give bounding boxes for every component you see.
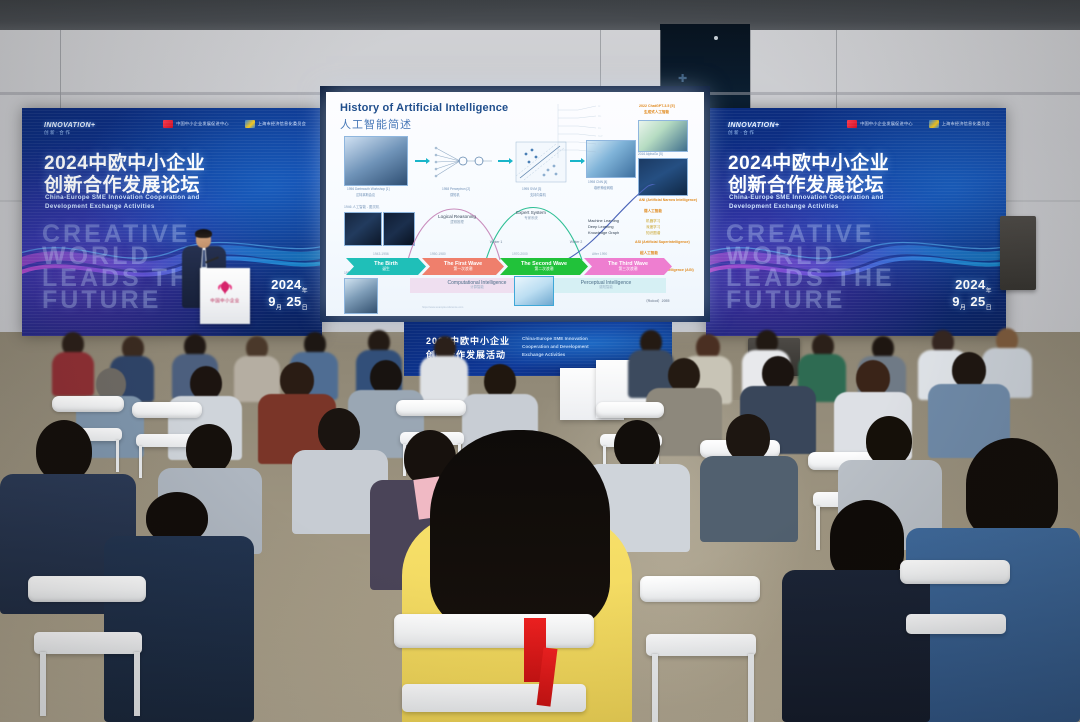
pa-speaker-left: [1000, 216, 1036, 290]
timeline-stage-birth: The Birth诞生: [346, 258, 426, 275]
chair-seat: [402, 684, 586, 712]
attendee-head: [668, 358, 700, 392]
attendee-head: [726, 414, 770, 462]
podium: [200, 268, 250, 324]
sponsor-mark-icon: [245, 120, 255, 128]
sponsor-mark-icon: [163, 120, 173, 128]
banner-title-en-2: Development Exchange Activities: [45, 203, 155, 210]
sponsor-logo-2: 上海市经济信息化委员会: [929, 120, 990, 128]
ml-terms-cn: 机器学习 深度学习 知识图谱: [646, 218, 660, 236]
chair-back: [900, 560, 1010, 584]
attendee-head: [190, 366, 222, 400]
sponsor-name: 中国中小企业发展促进中心: [176, 121, 229, 127]
event-date: 2024年 9月 25日: [268, 277, 308, 312]
timeline-stage-third-wave: The Third Wave第三次浪潮: [584, 258, 672, 275]
ceiling-sprinkler-icon: ✚: [678, 74, 687, 85]
chair-seat: [34, 632, 142, 654]
annotation-robot: （Robot）2055: [644, 299, 670, 304]
wall-panel-seam: [60, 30, 61, 110]
ceiling-light: [714, 36, 718, 40]
timeline-stage-first-wave: The First Wave第一次浪潮: [422, 258, 504, 275]
photo-robot: [514, 276, 554, 306]
year-range-2: 1950-1980: [430, 252, 446, 256]
sponsor-name: 上海市经济信息化委员会: [258, 121, 306, 127]
slide-title-cn: 人工智能简述: [340, 116, 412, 132]
attendee-head: [36, 420, 92, 482]
svg-text:KG: KG: [598, 151, 602, 154]
chair-leg: [748, 654, 754, 722]
photo-turing: [344, 278, 378, 314]
photo-caption-cn: 达特茅斯会议: [356, 192, 375, 197]
svg-text:AI: AI: [598, 105, 601, 108]
ceiling: [0, 0, 1080, 30]
slide-footer: https://www.example-reference.com: [422, 306, 463, 309]
banner-title-cn-2: 创新合作发展论坛: [728, 170, 884, 197]
chair-seat: [646, 634, 756, 656]
attendee-head: [866, 416, 912, 466]
annotation-chatgpt: 2022 ChatGPT-3.5 [5]: [639, 104, 675, 109]
attendee-hair: [430, 430, 610, 630]
svg-text:CV: CV: [598, 143, 602, 146]
attendee-head: [966, 438, 1058, 538]
strip-perceptual-intelligence: Perceptual Intelligence感知智能: [546, 278, 666, 293]
chair-back: [28, 576, 146, 602]
attendee-head: [830, 500, 904, 580]
attendee-head: [614, 420, 660, 470]
chair-leg: [139, 446, 142, 478]
perceptron-diagram: [430, 138, 496, 184]
wall-panel-seam: [836, 30, 837, 116]
flow-arrow: [415, 160, 427, 162]
attendee-head: [856, 360, 890, 396]
slide-bullet: 1946 人工智能 - 图灵机: [344, 204, 379, 209]
attendee-head: [952, 352, 986, 388]
timeline-stage-second-wave: The Second Wave第二次浪潮: [500, 258, 588, 275]
photo-dartmouth: [344, 136, 408, 186]
svg-text:ML: ML: [598, 115, 602, 118]
led-banner-right: CREATIVE WORLD LEADS THE FUTURE INNOVATI…: [706, 108, 1006, 336]
attendee-head: [318, 408, 360, 454]
secondary-banner-en: China-Europe SME Innovation Cooperation …: [522, 335, 589, 358]
phoenix-logo-icon: [216, 280, 234, 296]
banner-title-en-2: Development Exchange Activities: [729, 203, 839, 210]
sponsor-logos: 中国中小企业发展促进中心 上海市经济信息化委员会: [847, 120, 990, 128]
wall-panel-seam: [600, 30, 601, 90]
wall-panel-seam: [750, 30, 751, 112]
photo-chatgpt: [638, 120, 688, 152]
chair-back: [640, 576, 760, 602]
photo-eniac: [344, 212, 382, 246]
flow-arrow: [498, 160, 510, 162]
chair-back: [132, 402, 202, 418]
event-date: 2024年 9月 25日: [952, 277, 992, 312]
sponsor-logos: 中国中小企业发展促进中心 上海市经济信息化委员会: [163, 120, 306, 128]
svg-text:DL: DL: [598, 127, 602, 130]
attendee-body: [782, 570, 930, 722]
photo-caption: 1956 Dartmouth Workshop [1]: [347, 187, 389, 191]
banner-title-en-1: China-Europe SME Innovation Cooperation …: [45, 194, 200, 201]
conference-photo: ✚ ✚✚ CREATIVE: [0, 0, 1080, 722]
wave-label-logical: Logical Reasoning逻辑推理: [422, 214, 492, 224]
ml-terms-en: Machine Learning Deep Learning Knowledge…: [588, 218, 619, 236]
sponsor-logo-1: 中国中小企业发展促进中心: [163, 120, 229, 128]
wave-label-expert: Expert System专家系统: [498, 210, 564, 220]
chair-leg: [40, 652, 46, 716]
chair-leg: [116, 440, 119, 472]
sponsor-name: 上海市经济信息化委员会: [942, 121, 990, 127]
chair-leg: [816, 506, 820, 550]
presentation-screen: History of Artificial Intelligence 人工智能简…: [326, 92, 704, 316]
winter-label-1: Winter 1: [482, 240, 510, 244]
chair-leg: [134, 652, 140, 716]
chair-back: [396, 400, 466, 416]
sponsor-logo-2: 上海市经济信息化委员会: [245, 120, 306, 128]
svg-text:NLP: NLP: [598, 135, 603, 138]
annotation-chatgpt-cn: 生成式人工智能: [644, 110, 669, 115]
banner-title-en-1: China-Europe SME Innovation Cooperation …: [729, 194, 884, 201]
attendee-head: [186, 424, 232, 474]
slide-title-en: History of Artificial Intelligence: [340, 102, 508, 114]
chair-leg: [652, 654, 658, 722]
speaker-hair: [195, 229, 212, 238]
innovation-logo-sub: 创新·合作: [44, 130, 72, 136]
attendee-head: [370, 360, 402, 394]
chair-seat: [906, 614, 1006, 634]
attendee-body: [104, 536, 254, 722]
banner-slogan-line4: FUTURE: [42, 286, 161, 315]
year-range-3: 1970-2000: [512, 252, 528, 256]
innovation-logo: INNOVATION+: [728, 122, 779, 129]
attendee-body: [52, 352, 94, 396]
chair-back: [394, 614, 594, 648]
sponsor-mark-icon: [929, 120, 939, 128]
ai-taxonomy-tree: AIMLDL NLPCVKG: [550, 100, 616, 162]
attendee-head: [484, 364, 516, 398]
led-banner-left: CREATIVE WORLD LEADS THE FUTURE INNOVATI…: [22, 108, 322, 336]
banner-slogan-line4: FUTURE: [726, 286, 845, 315]
chair-back: [596, 402, 664, 418]
annotation-alphago: 2016 AlphaGo [5]: [638, 152, 663, 156]
chair-back: [52, 396, 124, 412]
attendee-head: [280, 362, 314, 398]
sponsor-name: 中国中小企业发展促进中心: [860, 121, 913, 127]
innovation-logo-sub: 创新·合作: [728, 130, 756, 136]
innovation-logo: INNOVATION+: [44, 122, 95, 129]
year-range-1: 1943-1956: [373, 252, 389, 256]
attendee-body: [700, 456, 798, 542]
podium-caption: 中国中小企业: [208, 298, 242, 304]
sponsor-mark-icon: [847, 120, 857, 128]
attendee-body: [420, 356, 468, 402]
banner-title-cn-2: 创新合作发展论坛: [44, 170, 200, 197]
sponsor-logo-1: 中国中小企业发展促进中心: [847, 120, 913, 128]
winter-label-2: Winter 2: [562, 240, 590, 244]
year-range-4: After 1990: [592, 252, 607, 256]
attendee-head: [762, 356, 794, 390]
